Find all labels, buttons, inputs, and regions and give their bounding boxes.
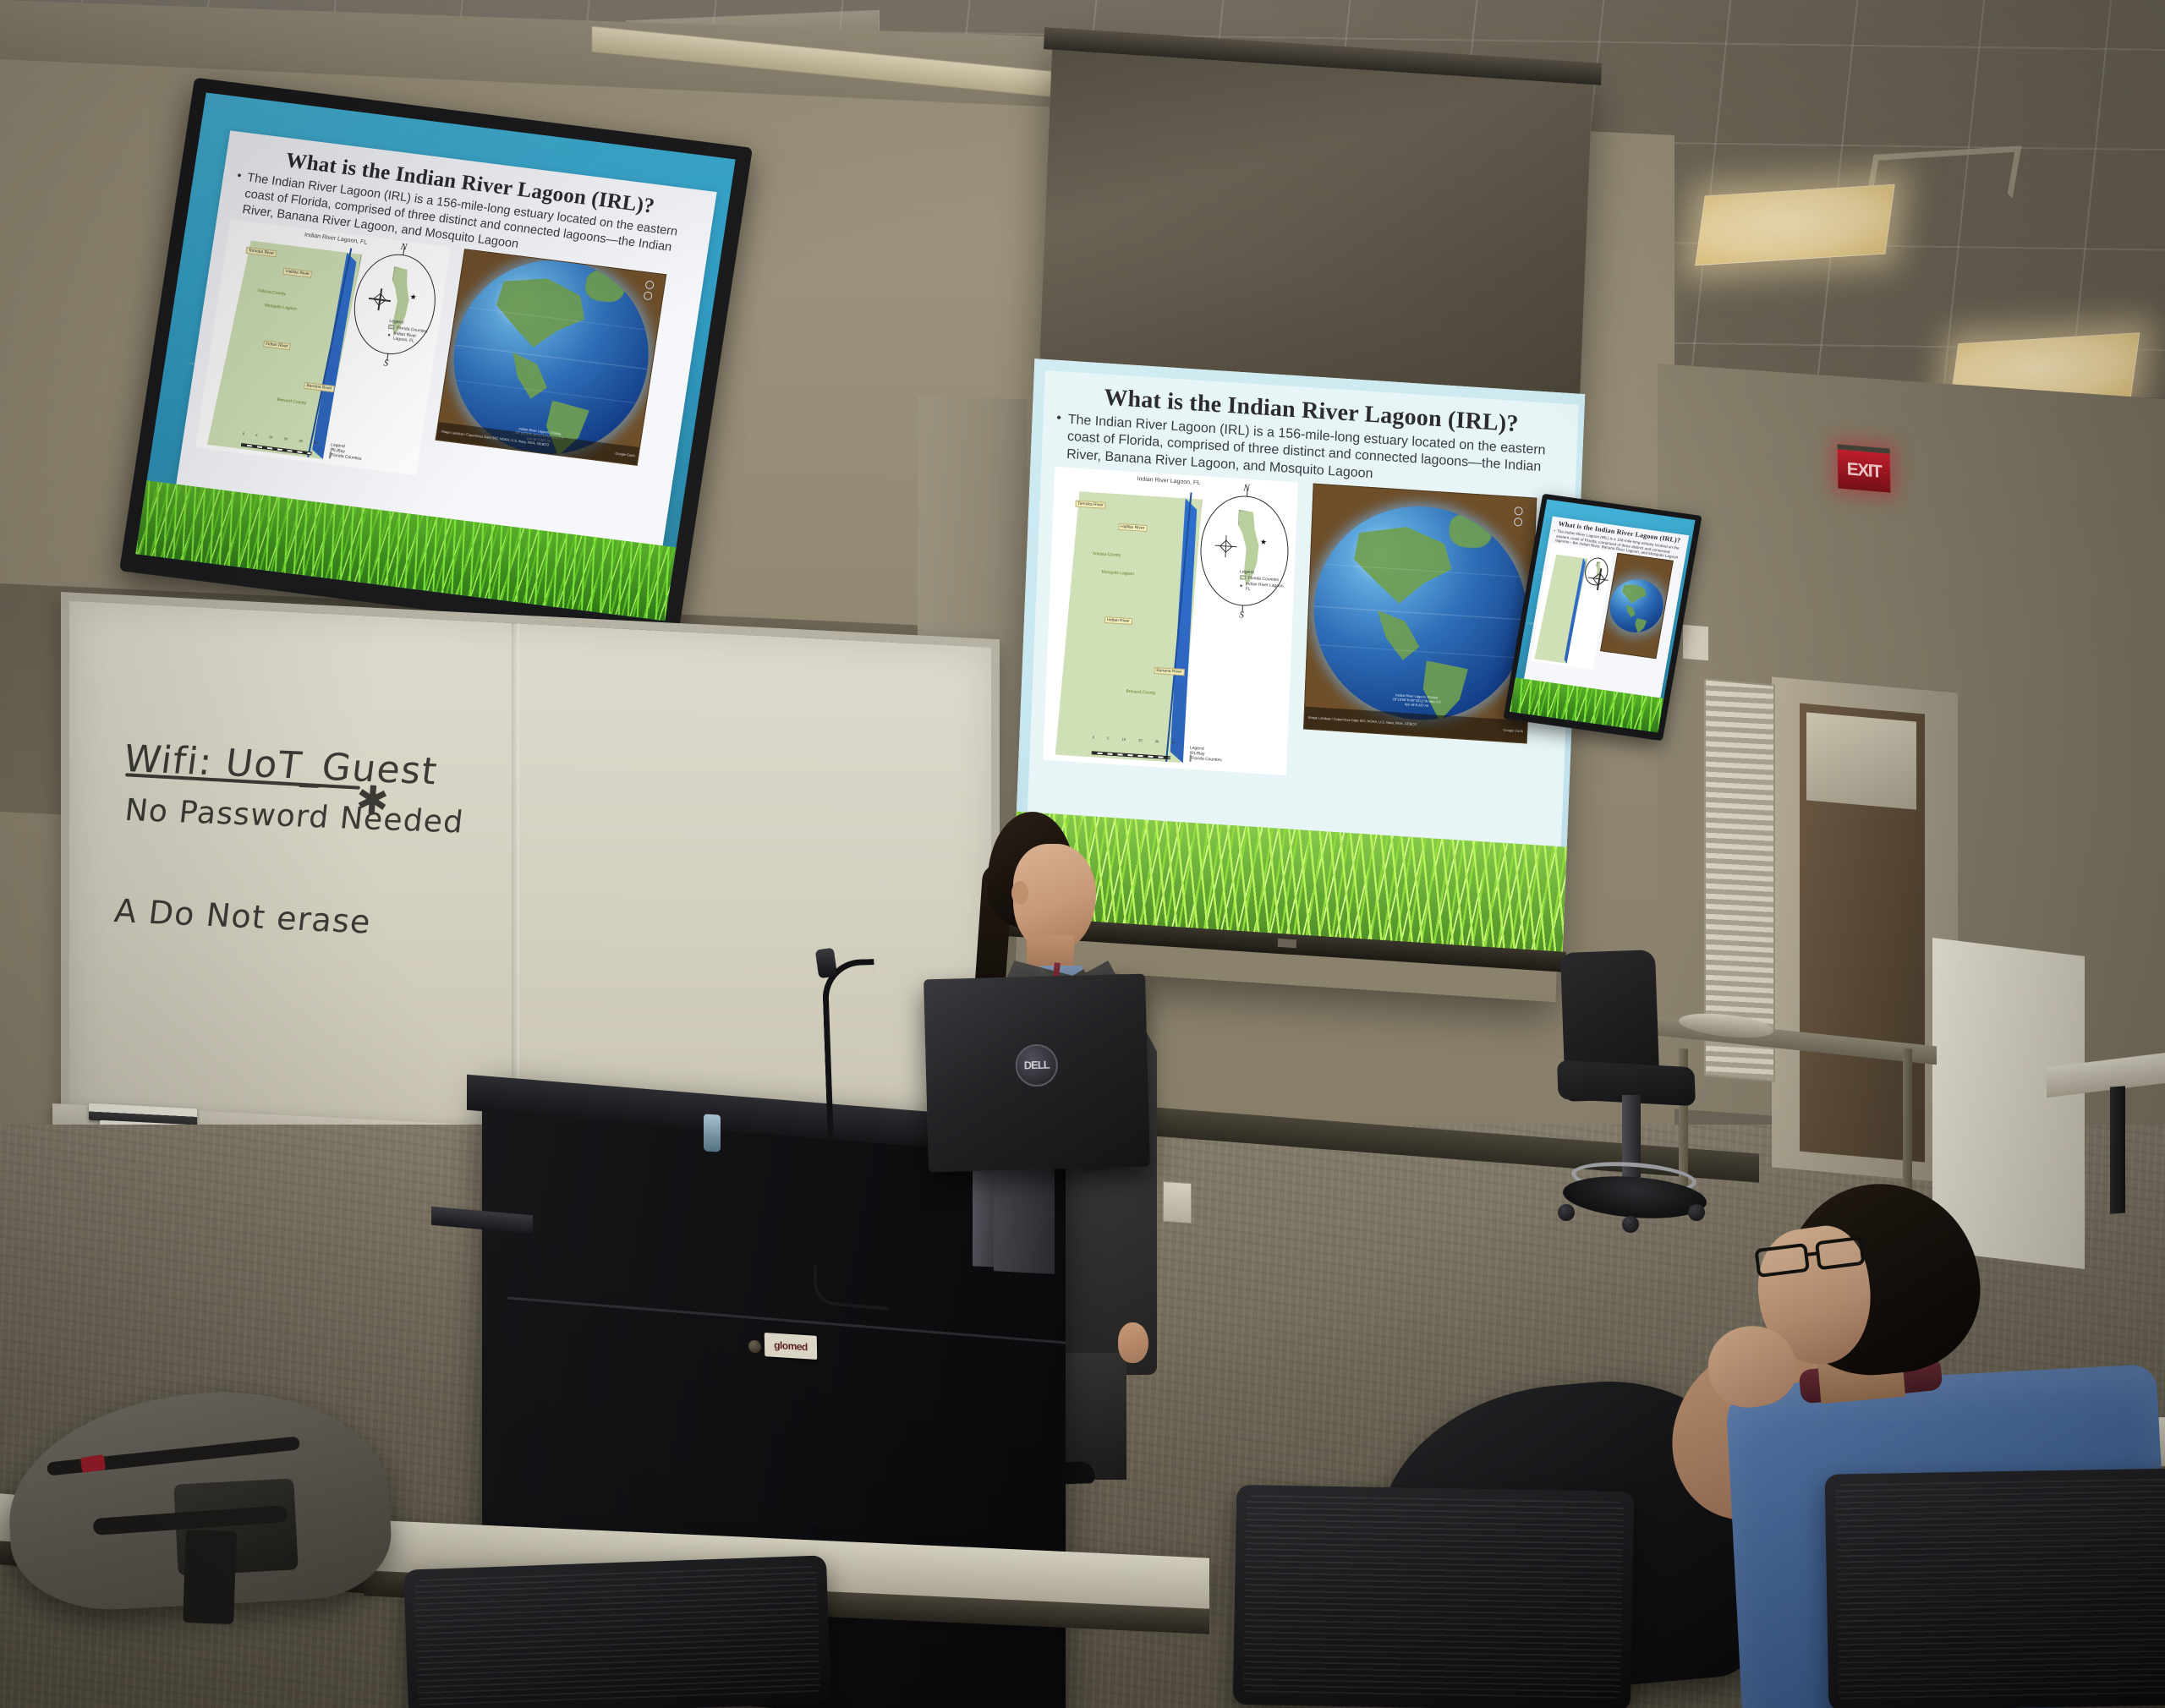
lectern-brand-label: glomed bbox=[765, 1333, 817, 1360]
chair-mesh-back bbox=[1243, 1495, 1624, 1701]
globe-zoom-icon[interactable] bbox=[643, 291, 652, 300]
inset-legend: Legend Florida Counties ★Indian River La… bbox=[386, 318, 432, 345]
compass-rose-icon bbox=[367, 287, 392, 312]
compass-tick bbox=[1247, 490, 1248, 497]
globe-south-america bbox=[1632, 617, 1650, 634]
stool-caster bbox=[1558, 1204, 1575, 1221]
glasses-lens-left bbox=[1754, 1243, 1810, 1278]
compass-rose-icon bbox=[1587, 567, 1612, 591]
lagoon-map-figure: Indian River Lagoon, FL Tomoka River Hal… bbox=[195, 219, 451, 475]
map-caption: Indian River Lagoon, FL bbox=[304, 232, 367, 245]
map-caption: Indian River Lagoon, FL bbox=[1137, 476, 1200, 486]
map-landmass bbox=[1534, 554, 1587, 665]
monitor-stand bbox=[994, 1161, 1055, 1274]
compass-rose-inset bbox=[1583, 556, 1610, 587]
gooseneck-microphone-arm bbox=[821, 959, 880, 1138]
chair-mesh-back bbox=[1835, 1478, 2165, 1700]
wall-outlet[interactable] bbox=[1163, 1181, 1192, 1224]
map-legend: Legend IRL/Bay Florida Counties bbox=[1189, 745, 1222, 762]
whiteboard-panel-seam bbox=[512, 623, 519, 1147]
globe-compass-icon[interactable] bbox=[1515, 506, 1523, 516]
screen-dark-leader bbox=[1039, 50, 1592, 397]
slide-content-area-small: What is the Indian River Lagoon (IRL)? •… bbox=[1523, 517, 1689, 700]
classroom-chair[interactable] bbox=[1233, 1485, 1634, 1708]
star-icon: ★ bbox=[386, 332, 391, 337]
projected-lagoon-map: Indian River Lagoon, FL Tomoka River Hal… bbox=[1043, 466, 1298, 775]
globe-north-america bbox=[1619, 583, 1649, 608]
globe-central-america bbox=[1624, 605, 1637, 619]
location-star-icon: ★ bbox=[409, 293, 418, 303]
ceiling-light-panel bbox=[1695, 184, 1895, 266]
globe-attribution-text: Image Landsat / Copernicus Data SIO, NOA… bbox=[1308, 715, 1417, 726]
microphone-head[interactable] bbox=[815, 948, 838, 979]
globe-sphere bbox=[1606, 576, 1668, 636]
glasses-lens-right bbox=[1815, 1236, 1866, 1271]
globe-sphere: Indian River Lagoon, Florida 28°18′56″N … bbox=[1309, 500, 1531, 726]
exit-sign: EXIT bbox=[1838, 444, 1891, 493]
door-window bbox=[1806, 712, 1916, 809]
whiteboard-asterisk: ✱ bbox=[354, 776, 390, 824]
projected-slide-content: What is the Indian River Lagoon (IRL)? •… bbox=[1028, 370, 1579, 846]
compass-rose-inset: N S ★ Legend Florida Counties bbox=[1198, 494, 1291, 609]
inset-legend: Legend Florida Counties ★Indian River La… bbox=[1239, 569, 1286, 594]
globe-graticule bbox=[1309, 500, 1531, 726]
water-bottle[interactable] bbox=[704, 1114, 721, 1152]
presenter-hand bbox=[1118, 1322, 1148, 1363]
globe-brand: Google Earth bbox=[1503, 728, 1523, 734]
classroom-photo-scene: What is the Indian River Lagoon (IRL)? •… bbox=[0, 0, 2165, 1708]
globe-zoom-icon[interactable] bbox=[1514, 517, 1522, 527]
globe-navigation-controls[interactable] bbox=[1508, 506, 1529, 528]
slide-canvas: What is the Indian River Lagoon (IRL)? •… bbox=[135, 92, 736, 621]
backpack-strap bbox=[183, 1530, 237, 1624]
compass-rose-icon bbox=[1214, 534, 1237, 558]
classroom-chair[interactable] bbox=[403, 1555, 831, 1708]
slide-figures-small bbox=[1527, 544, 1680, 698]
stool-caster bbox=[1622, 1216, 1639, 1233]
wall-plate bbox=[1683, 625, 1708, 661]
bullet-dot: • bbox=[231, 169, 243, 217]
lectern-lock-knob[interactable] bbox=[748, 1339, 761, 1353]
left-wall-display[interactable]: What is the Indian River Lagoon (IRL)? •… bbox=[119, 78, 753, 642]
map-legend-row: Florida Counties bbox=[1189, 755, 1222, 762]
map-legend: Legend IRL/Bay Florida Counties bbox=[329, 442, 364, 462]
earth-globe-figure-small bbox=[1600, 553, 1674, 659]
right-desk-leg bbox=[2110, 1086, 2125, 1213]
earth-globe-figure: Indian River Lagoon, Florida 28°18′56″N … bbox=[436, 249, 667, 466]
classroom-chair[interactable] bbox=[1825, 1468, 2165, 1708]
slide-canvas-small: What is the Indian River Lagoon (IRL)? •… bbox=[1510, 499, 1696, 732]
star-icon: ★ bbox=[1239, 583, 1243, 588]
projected-figures: Indian River Lagoon, FL Tomoka River Hal… bbox=[1041, 466, 1562, 840]
presenter-ear bbox=[1011, 881, 1028, 905]
inset-legend-row: ★Indian River Lagoon, FL bbox=[1239, 581, 1285, 594]
screen-pull-handle[interactable] bbox=[1278, 939, 1296, 948]
slide-content-area: What is the Indian River Lagoon (IRL)? •… bbox=[175, 131, 717, 550]
globe-compass-icon[interactable] bbox=[644, 280, 654, 289]
chair-mesh-back bbox=[414, 1566, 821, 1708]
podium-monitor[interactable]: DELL bbox=[924, 974, 1150, 1173]
globe-brand: Google Earth bbox=[615, 452, 635, 458]
bullet-dot: • bbox=[1055, 411, 1061, 464]
projected-earth-globe: Indian River Lagoon, Florida 28°18′56″N … bbox=[1303, 483, 1537, 743]
dell-logo: DELL bbox=[1015, 1043, 1058, 1087]
location-star-icon: ★ bbox=[1260, 537, 1268, 547]
globe-navigation-controls[interactable] bbox=[638, 280, 659, 301]
backpack-keychain-tag bbox=[80, 1454, 106, 1473]
stool-caster bbox=[1688, 1204, 1705, 1221]
display-bezel: What is the Indian River Lagoon (IRL)? •… bbox=[119, 78, 753, 642]
side-table-leg bbox=[1903, 1048, 1912, 1209]
compass-rose-inset: N S ★ Legend Florida Counties bbox=[348, 250, 442, 359]
